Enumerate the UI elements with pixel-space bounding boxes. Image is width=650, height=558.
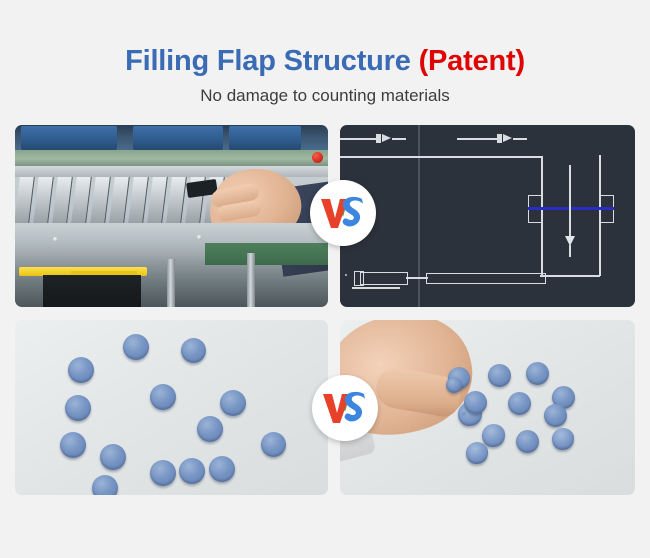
machine-blue-module-1 (21, 126, 117, 150)
page-title-main: Filling Flap Structure (125, 45, 418, 77)
tablet-intact (197, 416, 223, 442)
machine-flap (109, 177, 130, 223)
cad-actuator-arm (426, 273, 546, 284)
cad-flap-highlight (528, 207, 614, 210)
machine-flap (128, 177, 149, 223)
machine-photo-image (15, 125, 328, 307)
cad-arrow-head-2 (503, 134, 512, 142)
cad-drawing-image (340, 125, 635, 307)
tablet-intact (261, 432, 286, 457)
tablet-damaged (544, 404, 567, 427)
cad-arrow-head-1 (382, 134, 391, 142)
damaged-tablets-image (340, 320, 635, 495)
tablet-crumb (462, 412, 466, 416)
cad-reference-dot (345, 274, 347, 276)
cad-top-horizontal (340, 156, 543, 158)
tablet-damaged (466, 442, 488, 464)
tablet-intact (65, 395, 91, 421)
machine-flap (147, 177, 168, 223)
tablet-intact (150, 384, 176, 410)
tablet-intact (123, 334, 149, 360)
machine-screw (197, 235, 202, 240)
tablet-intact (68, 357, 94, 383)
vs-badge-top (310, 180, 376, 246)
machine-red-button (312, 152, 323, 163)
page-header: Filling Flap Structure (Patent) No damag… (0, 44, 650, 107)
tablet-intact (100, 444, 126, 470)
intact-tablets-image (15, 320, 328, 495)
machine-flap (90, 177, 111, 223)
vs-badge-glyph (319, 196, 367, 230)
cad-nozzle-shaft (569, 165, 571, 237)
machine-dark-bin (43, 275, 141, 307)
machine-flap (33, 177, 54, 223)
machine-flap (52, 177, 73, 223)
tablet-damaged (488, 364, 511, 387)
machine-flap (15, 177, 35, 223)
comparison-grid (15, 125, 635, 495)
page-title-accent: (Patent) (419, 45, 525, 77)
machine-blue-module-3 (229, 126, 301, 150)
panel-intact-tablets (15, 320, 328, 495)
panel-cad-drawing (340, 125, 635, 307)
tablet-intact (60, 432, 86, 458)
cad-dimension-line-3 (457, 138, 499, 140)
tablet-damaged (516, 430, 539, 453)
cad-arrow-tail-1 (376, 134, 381, 143)
cad-actuator-body (360, 272, 408, 285)
machine-blue-module-2 (133, 126, 223, 150)
tablet-intact (209, 456, 235, 482)
panel-machine-photo (15, 125, 328, 307)
machine-green-floor (205, 243, 328, 265)
tablet-intact (150, 460, 176, 486)
cad-dimension-line-1 (340, 138, 378, 140)
machine-flap (166, 177, 187, 223)
tablet-intact (181, 338, 206, 363)
cad-dimension-line-2 (392, 138, 406, 140)
tablet-damaged (482, 424, 505, 447)
cad-guide-line (418, 125, 420, 307)
cad-actuator-rod (406, 277, 428, 279)
cad-nozzle-stem (569, 245, 571, 257)
page-subtitle: No damage to counting materials (0, 85, 650, 107)
tablet-damaged (526, 362, 549, 385)
tablet-damaged (508, 392, 531, 415)
vs-badge-bottom (312, 375, 378, 441)
page-title: Filling Flap Structure (Patent) (0, 44, 650, 78)
machine-green-band (15, 150, 328, 166)
tablet-damaged (446, 377, 462, 393)
cad-actuator-base (352, 287, 400, 289)
tablet-intact (92, 475, 118, 495)
cad-arrow-tail-2 (497, 134, 502, 143)
panel-damaged-tablets (340, 320, 635, 495)
cad-actuator-cap (354, 271, 364, 286)
cad-base-horizontal (540, 275, 600, 277)
machine-screw (53, 237, 58, 242)
tablet-damaged (552, 428, 574, 450)
vs-badge-glyph (321, 391, 369, 425)
machine-support-post (167, 259, 175, 307)
tablet-damaged (464, 391, 487, 414)
machine-flap (71, 177, 92, 223)
machine-support-post (247, 253, 255, 307)
tablet-intact (179, 458, 205, 484)
cad-dimension-line-4 (513, 138, 527, 140)
tablet-intact (220, 390, 246, 416)
